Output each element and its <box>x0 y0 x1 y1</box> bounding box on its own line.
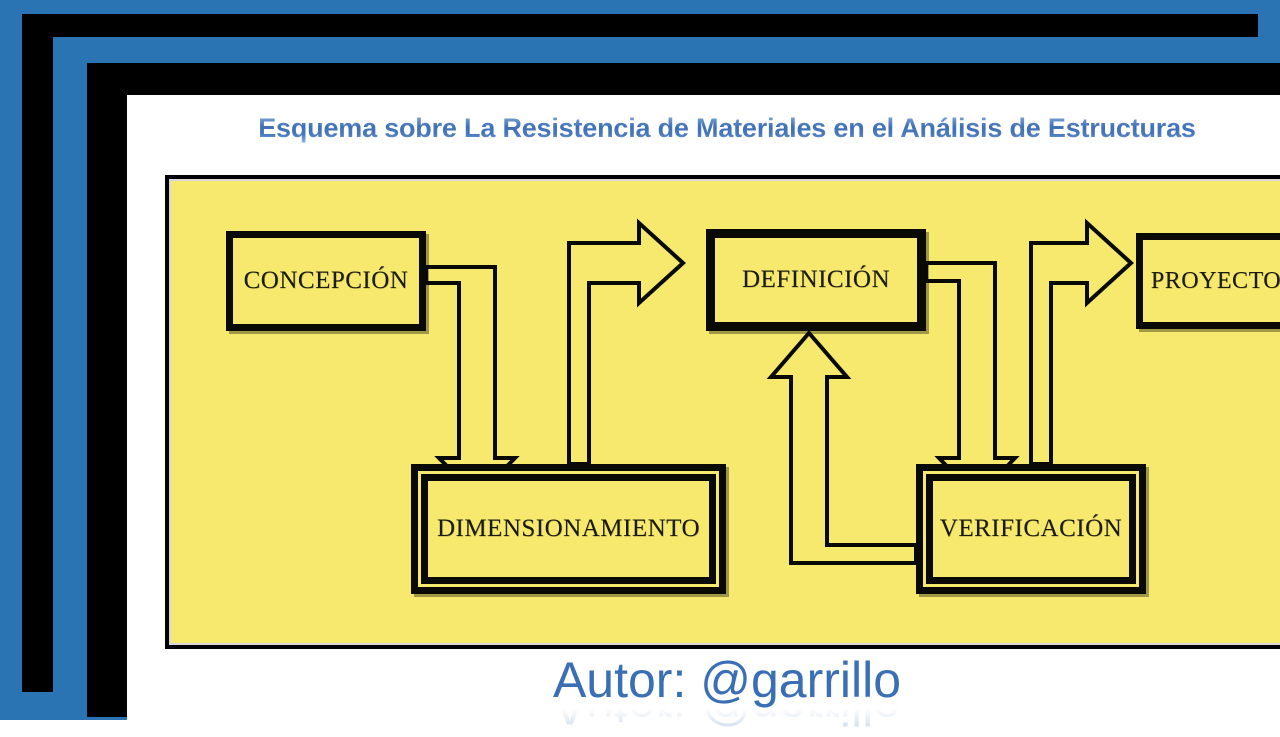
page-title: Esquema sobre La Resistencia de Material… <box>127 113 1280 144</box>
frame-black-band: Esquema sobre La Resistencia de Material… <box>22 14 1258 692</box>
diagram-canvas: CONCEPCIÓN DEFINICIÓN PROYECTO <box>171 181 1280 643</box>
node-concepcion[interactable]: CONCEPCIÓN <box>226 231 426 331</box>
diagram-canvas-inner-line: CONCEPCIÓN DEFINICIÓN PROYECTO <box>169 179 1280 645</box>
edge-dimensionamiento-to-definicion <box>569 223 683 464</box>
edge-verificacion-to-proyecto <box>1031 223 1131 464</box>
outer-blue-frame: Esquema sobre La Resistencia de Material… <box>0 0 1280 720</box>
node-definicion[interactable]: DEFINICIÓN <box>706 229 926 331</box>
node-verificacion-inner-ring: VERIFICACIÓN <box>926 474 1136 584</box>
node-verificacion-label: VERIFICACIÓN <box>940 515 1122 543</box>
edge-concepcion-to-dimensionamiento <box>426 267 515 497</box>
node-proyecto[interactable]: PROYECTO <box>1136 233 1280 329</box>
frame-blue-inner-line: Esquema sobre La Resistencia de Material… <box>53 37 1271 697</box>
edge-verificacion-to-definicion <box>771 333 916 563</box>
node-dimensionamiento-label: DIMENSIONAMIENTO <box>437 515 700 543</box>
node-dimensionamiento[interactable]: DIMENSIONAMIENTO <box>411 464 726 594</box>
edge-definicion-to-verificacion <box>926 263 1015 498</box>
frame-black-inner-band: Esquema sobre La Resistencia de Material… <box>87 63 1280 717</box>
node-proyecto-label: PROYECTO <box>1151 268 1280 295</box>
node-verificacion[interactable]: VERIFICACIÓN <box>916 464 1146 594</box>
node-concepcion-label: CONCEPCIÓN <box>244 267 409 295</box>
node-definicion-label: DEFINICIÓN <box>742 266 890 294</box>
slide-page: Esquema sobre La Resistencia de Material… <box>127 95 1280 737</box>
author-credit: Autor: @garrillo Autor: @garrillo <box>127 655 1280 732</box>
diagram-canvas-frame: CONCEPCIÓN DEFINICIÓN PROYECTO <box>165 175 1280 649</box>
author-text-reflection: Autor: @garrillo <box>127 706 1280 732</box>
node-dimensionamiento-inner-ring: DIMENSIONAMIENTO <box>421 474 716 584</box>
author-text: Autor: @garrillo <box>127 655 1280 705</box>
